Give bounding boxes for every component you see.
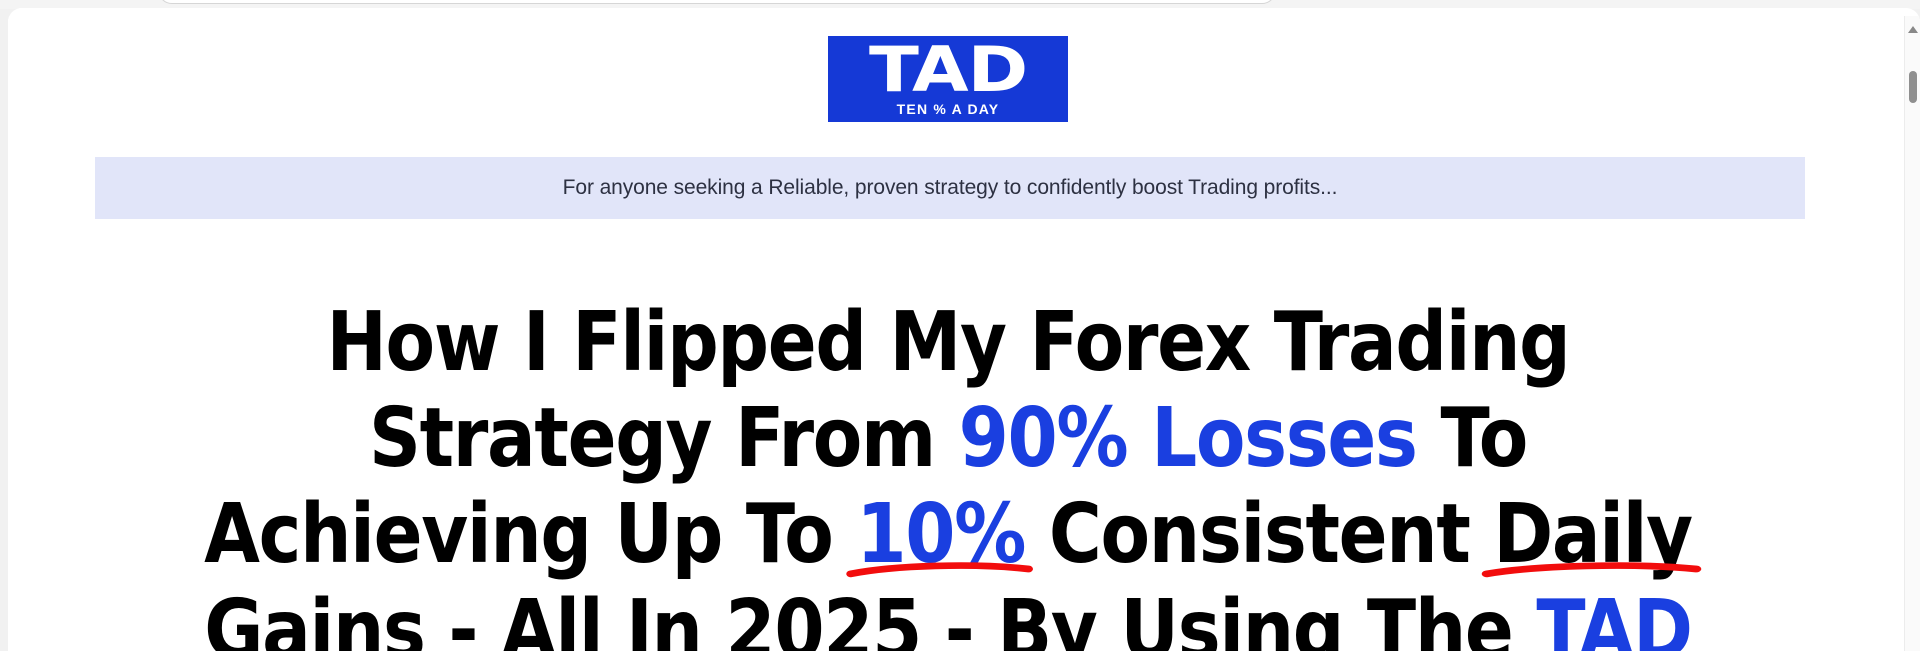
scrollbar-track[interactable] [1905,40,1920,651]
headline-segment-daily-text: Daily [1493,487,1692,582]
headline-segment-10-percent: 10% [856,487,1025,583]
headline-segment-2: From [735,391,959,486]
browser-viewport: TAD TEN % A DAY For anyone seeking a Rel… [8,8,1920,651]
landing-page: TAD TEN % A DAY For anyone seeking a Rel… [8,8,1888,651]
page-headline: How I Flipped My Forex Trading Strategy … [174,295,1723,651]
headline-segment-daily: Daily [1493,487,1692,583]
headline-segment-10: - By Using The [921,583,1536,651]
scroll-up-arrow-icon[interactable] [1908,26,1918,33]
logo-container: TAD TEN % A DAY [8,36,1888,122]
announcement-banner-text: For anyone seeking a Reliable, proven st… [563,176,1338,200]
headline-segment-90-losses: 90% Losses [959,391,1417,486]
scrollbar-thumb[interactable] [1909,71,1917,103]
announcement-banner: For anyone seeking a Reliable, proven st… [95,157,1805,219]
tad-logo[interactable]: TAD TEN % A DAY [828,36,1068,122]
logo-mark-text: TAD [806,39,1089,101]
headline-segment-8: Gains - All In [204,583,725,651]
page-scrollbar[interactable] [1904,16,1920,651]
headline-segment-10-percent-text: 10% [856,487,1025,582]
browser-omnibox[interactable] [158,0,1276,4]
logo-tagline: TEN % A DAY [828,102,1068,116]
headline-segment-2025: 2025 [725,583,921,651]
headline-segment-2025-text: 2025 [725,583,921,651]
headline-segment-6: Consistent [1025,487,1493,582]
